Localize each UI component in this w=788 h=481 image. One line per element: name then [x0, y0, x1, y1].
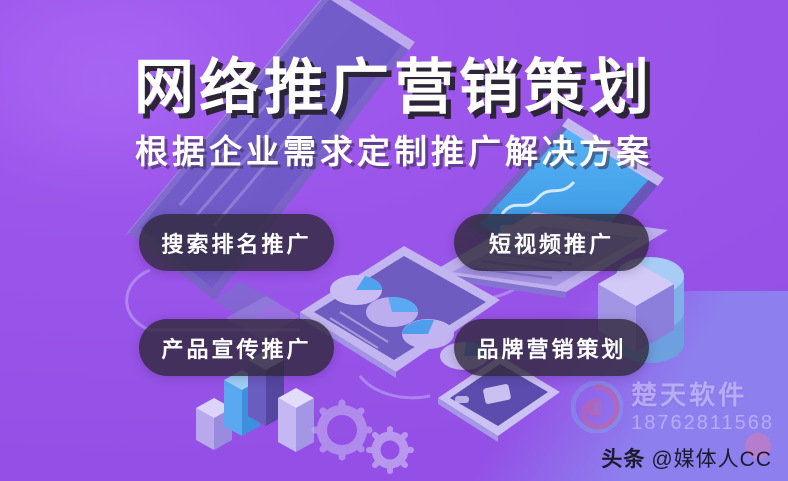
service-pill-row-2: 产品宣传推广 品牌营销策划	[0, 319, 788, 376]
pill-search-ranking-promotion[interactable]: 搜索排名推广	[139, 214, 334, 271]
service-pill-grid: 搜索排名推广 短视频推广 产品宣传推广 品牌营销策划	[0, 214, 788, 424]
page-subtitle: 根据企业需求定制推广解决方案	[0, 134, 788, 170]
pill-brand-marketing-planning[interactable]: 品牌营销策划	[454, 319, 649, 376]
headline-block: 网络推广营销策划 根据企业需求定制推广解决方案	[0, 56, 788, 170]
pill-product-publicity-promotion[interactable]: 产品宣传推广	[139, 319, 334, 376]
promo-poster: 网络推广营销策划 根据企业需求定制推广解决方案 搜索排名推广 短视频推广 产品宣…	[0, 0, 788, 481]
credit-line: 头条 @媒体人CC	[601, 443, 772, 473]
pill-short-video-promotion[interactable]: 短视频推广	[454, 214, 649, 271]
credit-platform: 头条	[601, 443, 645, 473]
credit-handle: @媒体人CC	[651, 443, 772, 473]
service-pill-row-1: 搜索排名推广 短视频推广	[0, 214, 788, 271]
page-title: 网络推广营销策划	[0, 56, 788, 120]
